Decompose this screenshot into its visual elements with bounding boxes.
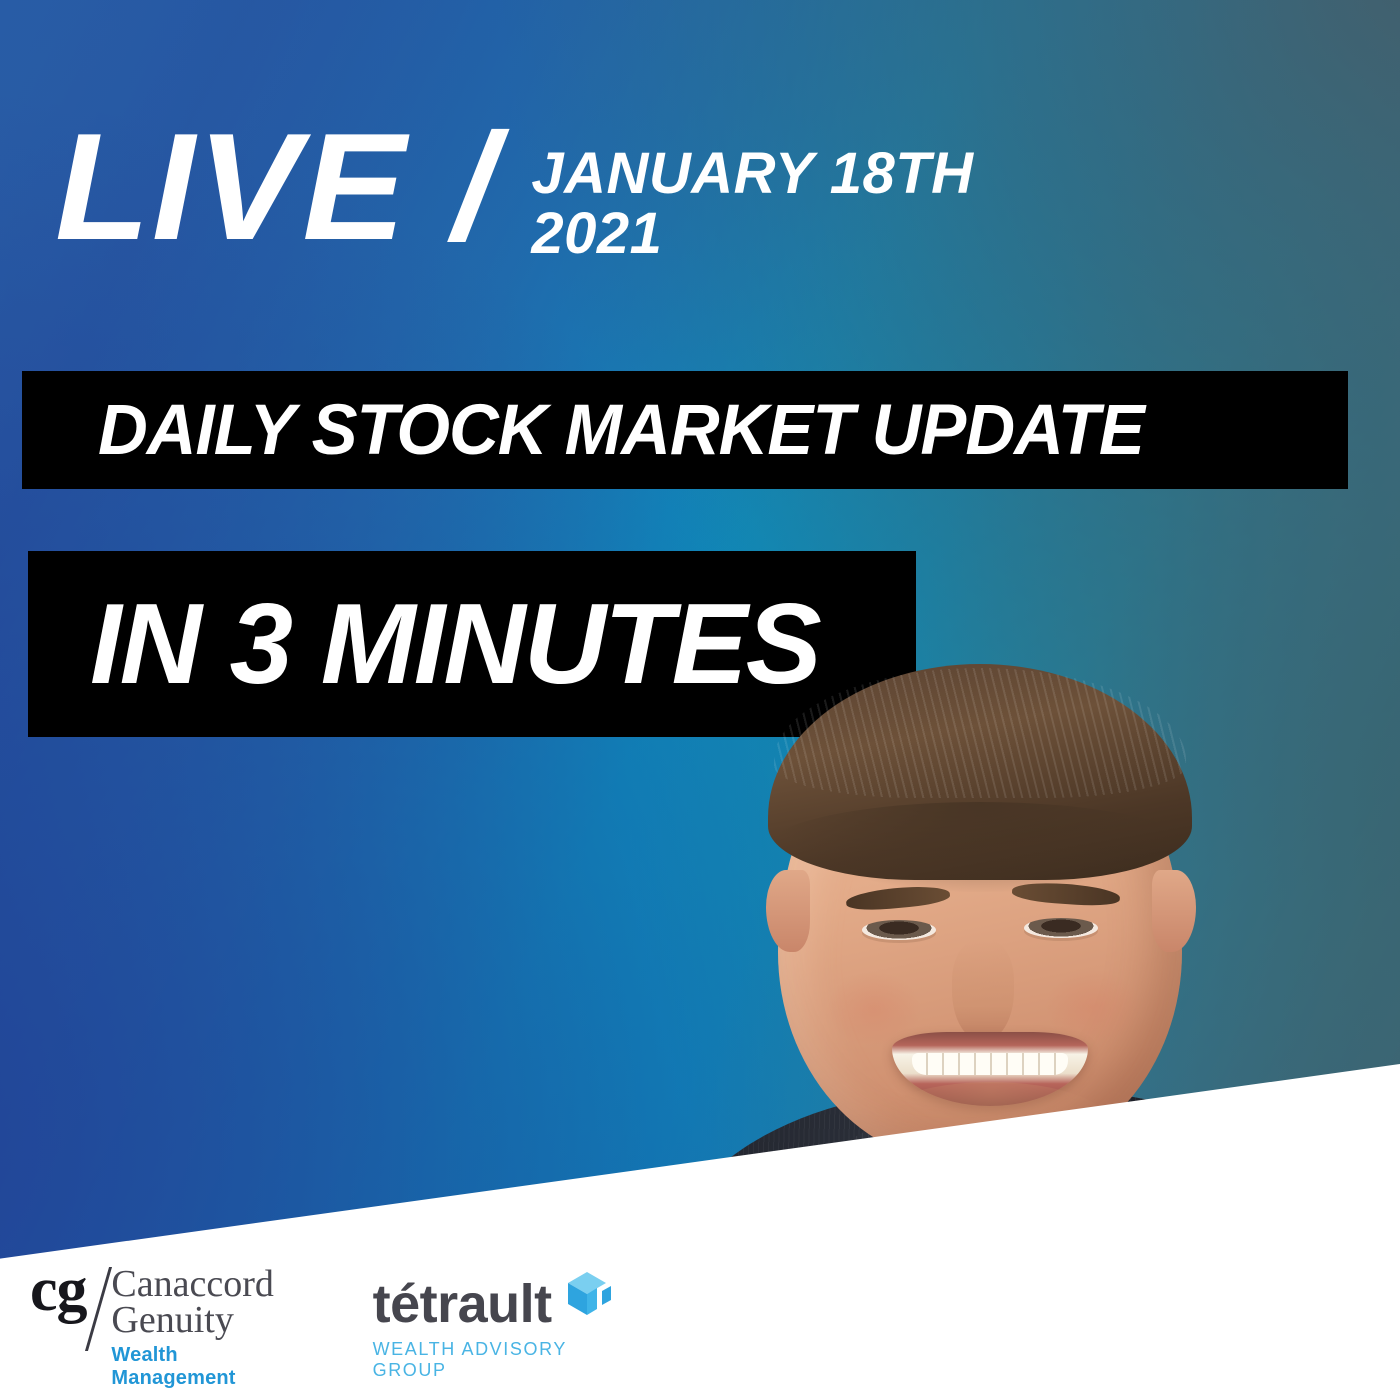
tetrault-tagline: WEALTH ADVISORY GROUP bbox=[373, 1339, 640, 1381]
broadcast-date: JANUARY 18TH 2021 bbox=[531, 144, 973, 263]
cg-name-line-2: Genuity bbox=[111, 1303, 300, 1339]
presenter-portrait bbox=[600, 620, 1400, 1400]
chin bbox=[868, 1082, 1114, 1174]
eye-left bbox=[862, 920, 936, 940]
tetrault-wordmark-row: tétrault bbox=[373, 1277, 640, 1331]
cg-wordmark: Canaccord Genuity Wealth Management bbox=[111, 1267, 300, 1389]
ear-left bbox=[766, 870, 810, 952]
cg-monogram: cg bbox=[30, 1265, 87, 1316]
cg-name-line-1: Canaccord bbox=[111, 1267, 300, 1303]
date-line-1: JANUARY 18TH bbox=[531, 141, 973, 206]
banner-1-text: DAILY STOCK MARKET UPDATE bbox=[98, 390, 1144, 471]
tetrault-logo: tétrault WEALTH ADVISORY GROUP bbox=[373, 1277, 640, 1381]
live-stream-promo-poster: LIVE / JANUARY 18TH 2021 DAILY STOCK MAR… bbox=[0, 0, 1400, 1400]
canaccord-genuity-logo: cg Canaccord Genuity Wealth Management bbox=[30, 1265, 301, 1389]
live-label: LIVE / bbox=[55, 118, 498, 258]
nose bbox=[952, 940, 1014, 1042]
hairline-shadow bbox=[768, 802, 1192, 892]
banner-daily-stock-market-update: DAILY STOCK MARKET UPDATE bbox=[22, 371, 1348, 489]
header-row: LIVE / JANUARY 18TH 2021 bbox=[55, 118, 1345, 263]
ear-right bbox=[1152, 870, 1196, 952]
cg-slash-divider bbox=[84, 1267, 111, 1351]
cg-tagline: Wealth Management bbox=[111, 1344, 300, 1390]
date-line-2: 2021 bbox=[531, 204, 973, 264]
cheek-left bbox=[828, 972, 920, 1046]
cube-icon bbox=[564, 1269, 616, 1326]
cheek-right bbox=[1046, 970, 1140, 1044]
eye-right bbox=[1024, 918, 1098, 938]
footer-logo-row: cg Canaccord Genuity Wealth Management t… bbox=[0, 1255, 640, 1400]
tetrault-name: tétrault bbox=[373, 1277, 552, 1331]
